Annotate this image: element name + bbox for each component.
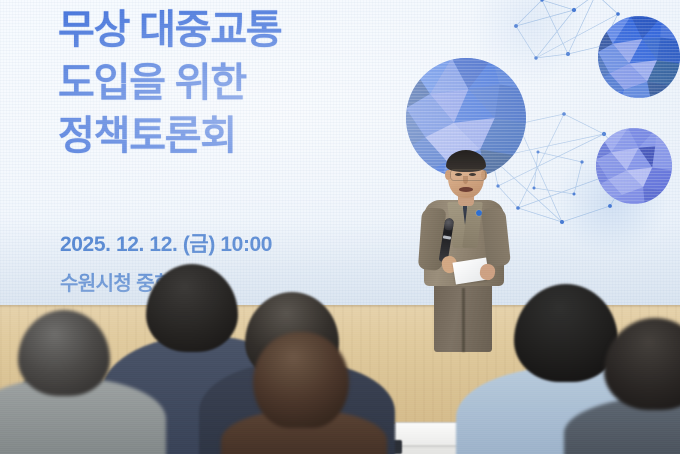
- projection-screen: 무상 대중교통 도입을 위한 정책토론회 2025. 12. 12. (금) 1…: [0, 0, 680, 312]
- audience-head: [18, 310, 110, 396]
- audience-head: [604, 318, 680, 410]
- speaker-leg-split: [462, 288, 465, 352]
- speaker-mouth: [459, 187, 473, 192]
- audience-center-long-hair: [215, 314, 385, 454]
- audience-head: [253, 332, 349, 428]
- decorative-polygon-circle-top-right: [598, 16, 680, 98]
- event-datetime: 2025. 12. 12. (금) 10:00: [60, 228, 272, 258]
- speaker-glasses: [450, 169, 486, 181]
- headline-line-1: 무상 대중교통: [58, 4, 418, 57]
- audience-front-left: [0, 304, 148, 454]
- speaker-nose: [463, 176, 468, 184]
- slide-headline: 무상 대중교통 도입을 위한 정책토론회: [58, 4, 418, 162]
- headline-line-2: 도입을 위한: [58, 57, 418, 110]
- photograph-scene: 무상 대중교통 도입을 위한 정책토론회 2025. 12. 12. (금) 1…: [0, 0, 680, 454]
- audience-far-right: [582, 308, 680, 454]
- headline-line-3: 정책토론회: [58, 110, 418, 163]
- decorative-polygon-circle-bottom-right: [596, 128, 672, 204]
